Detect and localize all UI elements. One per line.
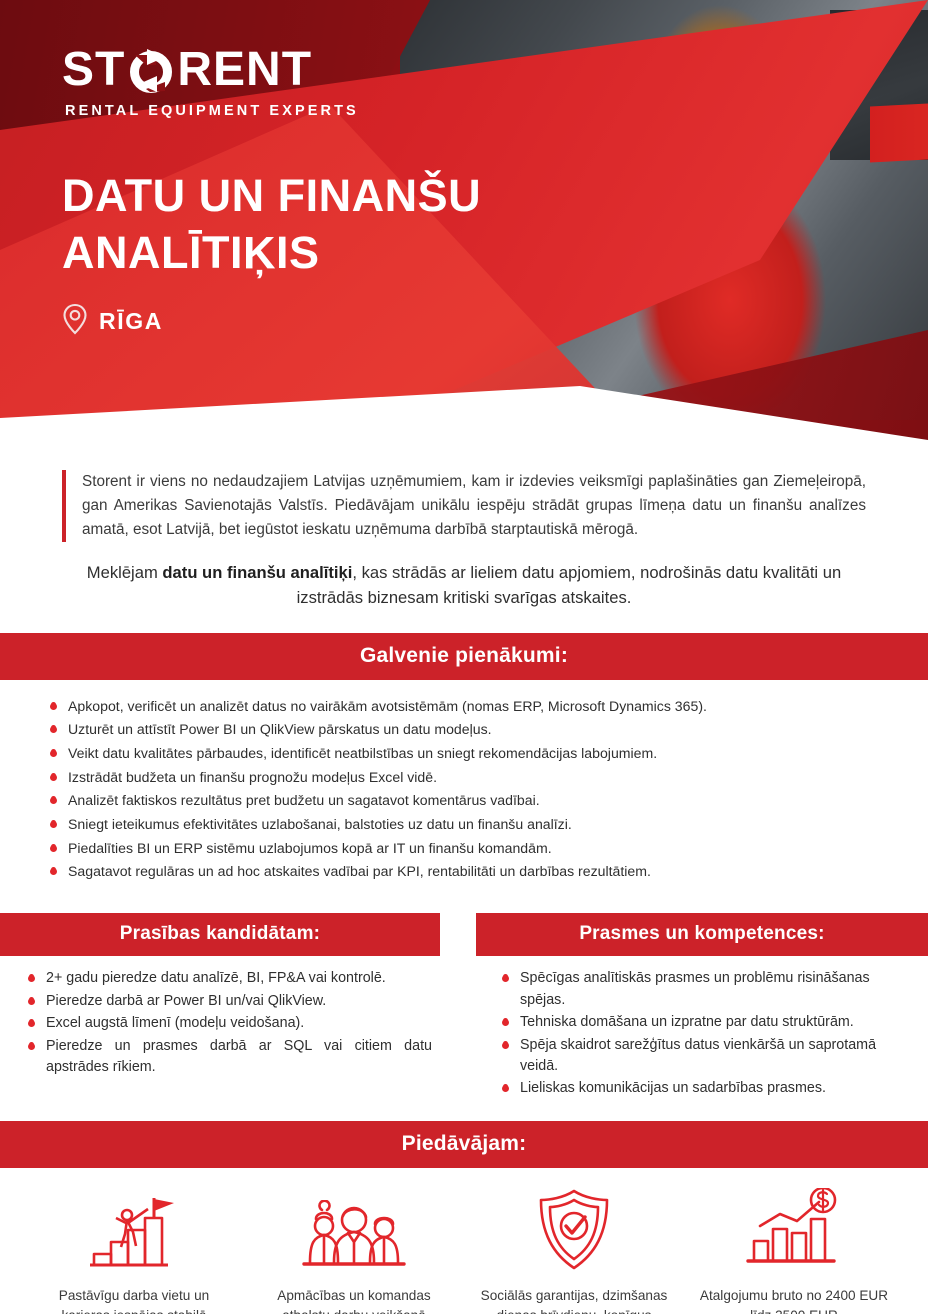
location-label: RĪGA [99,308,163,335]
benefit-item: Apmācības un komandas atbalstu darbu vei… [244,1188,464,1314]
company-blurb: Storent ir viens no nedaudzajiem Latvija… [62,470,866,542]
benefit-caption: Pastāvīgu darba vietu un karjeras iespēj… [36,1286,232,1314]
requirements-list: 2+ gadu pieredze datu analīzē, BI, FP&A … [24,968,432,1078]
shield-check-icon [535,1188,613,1272]
location-row: RĪGA [62,303,163,340]
skills-column: Prasmes un kompetences: Spēcīgas analīti… [464,913,928,1105]
benefit-caption: Apmācības un komandas atbalstu darbu vei… [256,1286,452,1314]
benefit-item: Pastāvīgu darba vietu un karjeras iespēj… [24,1188,244,1314]
map-pin-icon [62,303,88,340]
list-item: Spēcīgas analītiskās prasmes un problēmu… [498,968,914,1011]
logo-text-first: ST [62,46,125,94]
intro-section: Storent ir viens no nedaudzajiem Latvija… [0,470,928,610]
growth-chart-dollar-icon [744,1188,844,1272]
requirements-column: Prasības kandidātam: 2+ gadu pieredze da… [0,913,464,1105]
poster-header: STORENT RENTAL EQUIPMENT EXPERTS STORENT… [0,0,928,462]
list-item: Uzturēt un attīstīt Power BI un QlikView… [46,719,884,741]
list-item: Pieredze darbā ar Power BI un/vai QlikVi… [24,991,432,1012]
job-poster: STORENT RENTAL EQUIPMENT EXPERTS STORENT… [0,0,928,1314]
list-item: Analizēt faktiskos rezultātus pret budže… [46,790,884,812]
list-item: 2+ gadu pieredze datu analīzē, BI, FP&A … [24,968,432,989]
duties-section: Apkopot, verificēt un analizēt datus no … [0,680,928,896]
logo-recycle-o-icon [125,46,177,94]
benefit-caption: Sociālās garantijas, dzimšanas dienas br… [476,1286,672,1314]
role-tagline: Meklējam datu un finanšu analītiķi, kas … [62,561,866,609]
benefits-row: Pastāvīgu darba vietu un karjeras iespēj… [0,1168,928,1314]
duties-section-title: Galvenie pienākumi: [0,633,928,680]
skills-body: Spēcīgas analītiskās prasmes un problēmu… [464,956,928,1105]
list-item: Lieliskas komunikācijas un sadarbības pr… [498,1078,914,1099]
tagline-before: Meklējam [87,563,163,582]
benefit-item: Atalgojumu bruto no 2400 EUR līdz 3500 E… [684,1188,904,1314]
list-item: Pieredze un prasmes darbā ar SQL vai cit… [24,1036,432,1079]
tagline-highlight: datu un finanšu analītiķi [162,563,352,582]
two-column-section: Prasības kandidātam: 2+ gadu pieredze da… [0,913,928,1105]
requirements-body: 2+ gadu pieredze datu analīzē, BI, FP&A … [0,956,452,1083]
page-title: DATU UN FINANŠU ANALĪTIĶIS [62,168,682,281]
list-item: Sagatavot regulāras un ad hoc atskaites … [46,861,884,883]
duties-list: Apkopot, verificēt un analizēt datus no … [46,696,884,884]
logo-text-last: RENT [177,46,312,94]
list-item: Spēja skaidrot sarežģītus datus vienkārš… [498,1035,914,1078]
requirements-section-title: Prasības kandidātam: [0,913,440,956]
list-item: Izstrādāt budžeta un finanšu prognožu mo… [46,767,884,789]
logo-tagline: RENTAL EQUIPMENT EXPERTS [65,103,359,119]
benefit-item: Sociālās garantijas, dzimšanas dienas br… [464,1188,684,1314]
career-growth-steps-flag-icon [88,1188,180,1272]
offer-section-title: Piedāvājam: [0,1121,928,1168]
list-item: Excel augstā līmenī (modeļu veidošana). [24,1013,432,1034]
list-item: Veikt datu kvalitātes pārbaudes, identif… [46,743,884,765]
list-item: Piedalīties BI un ERP sistēmu uzlabojumo… [46,838,884,860]
tagline-after: , kas strādās ar lieliem datu apjomiem, … [297,563,842,606]
skills-list: Spēcīgas analītiskās prasmes un problēmu… [498,968,914,1100]
skills-section-title: Prasmes un kompetences: [476,913,928,956]
list-item: Apkopot, verificēt un analizēt datus no … [46,696,884,718]
benefit-caption: Atalgojumu bruto no 2400 EUR līdz 3500 E… [696,1286,892,1314]
storent-logo: ST RENT RENTAL EQUIPMENT EXPERTS [62,46,359,119]
list-item: Tehniska domāšana un izpratne par datu s… [498,1012,914,1033]
team-people-icon [302,1188,406,1272]
list-item: Sniegt ieteikumus efektivitātes uzlaboša… [46,814,884,836]
